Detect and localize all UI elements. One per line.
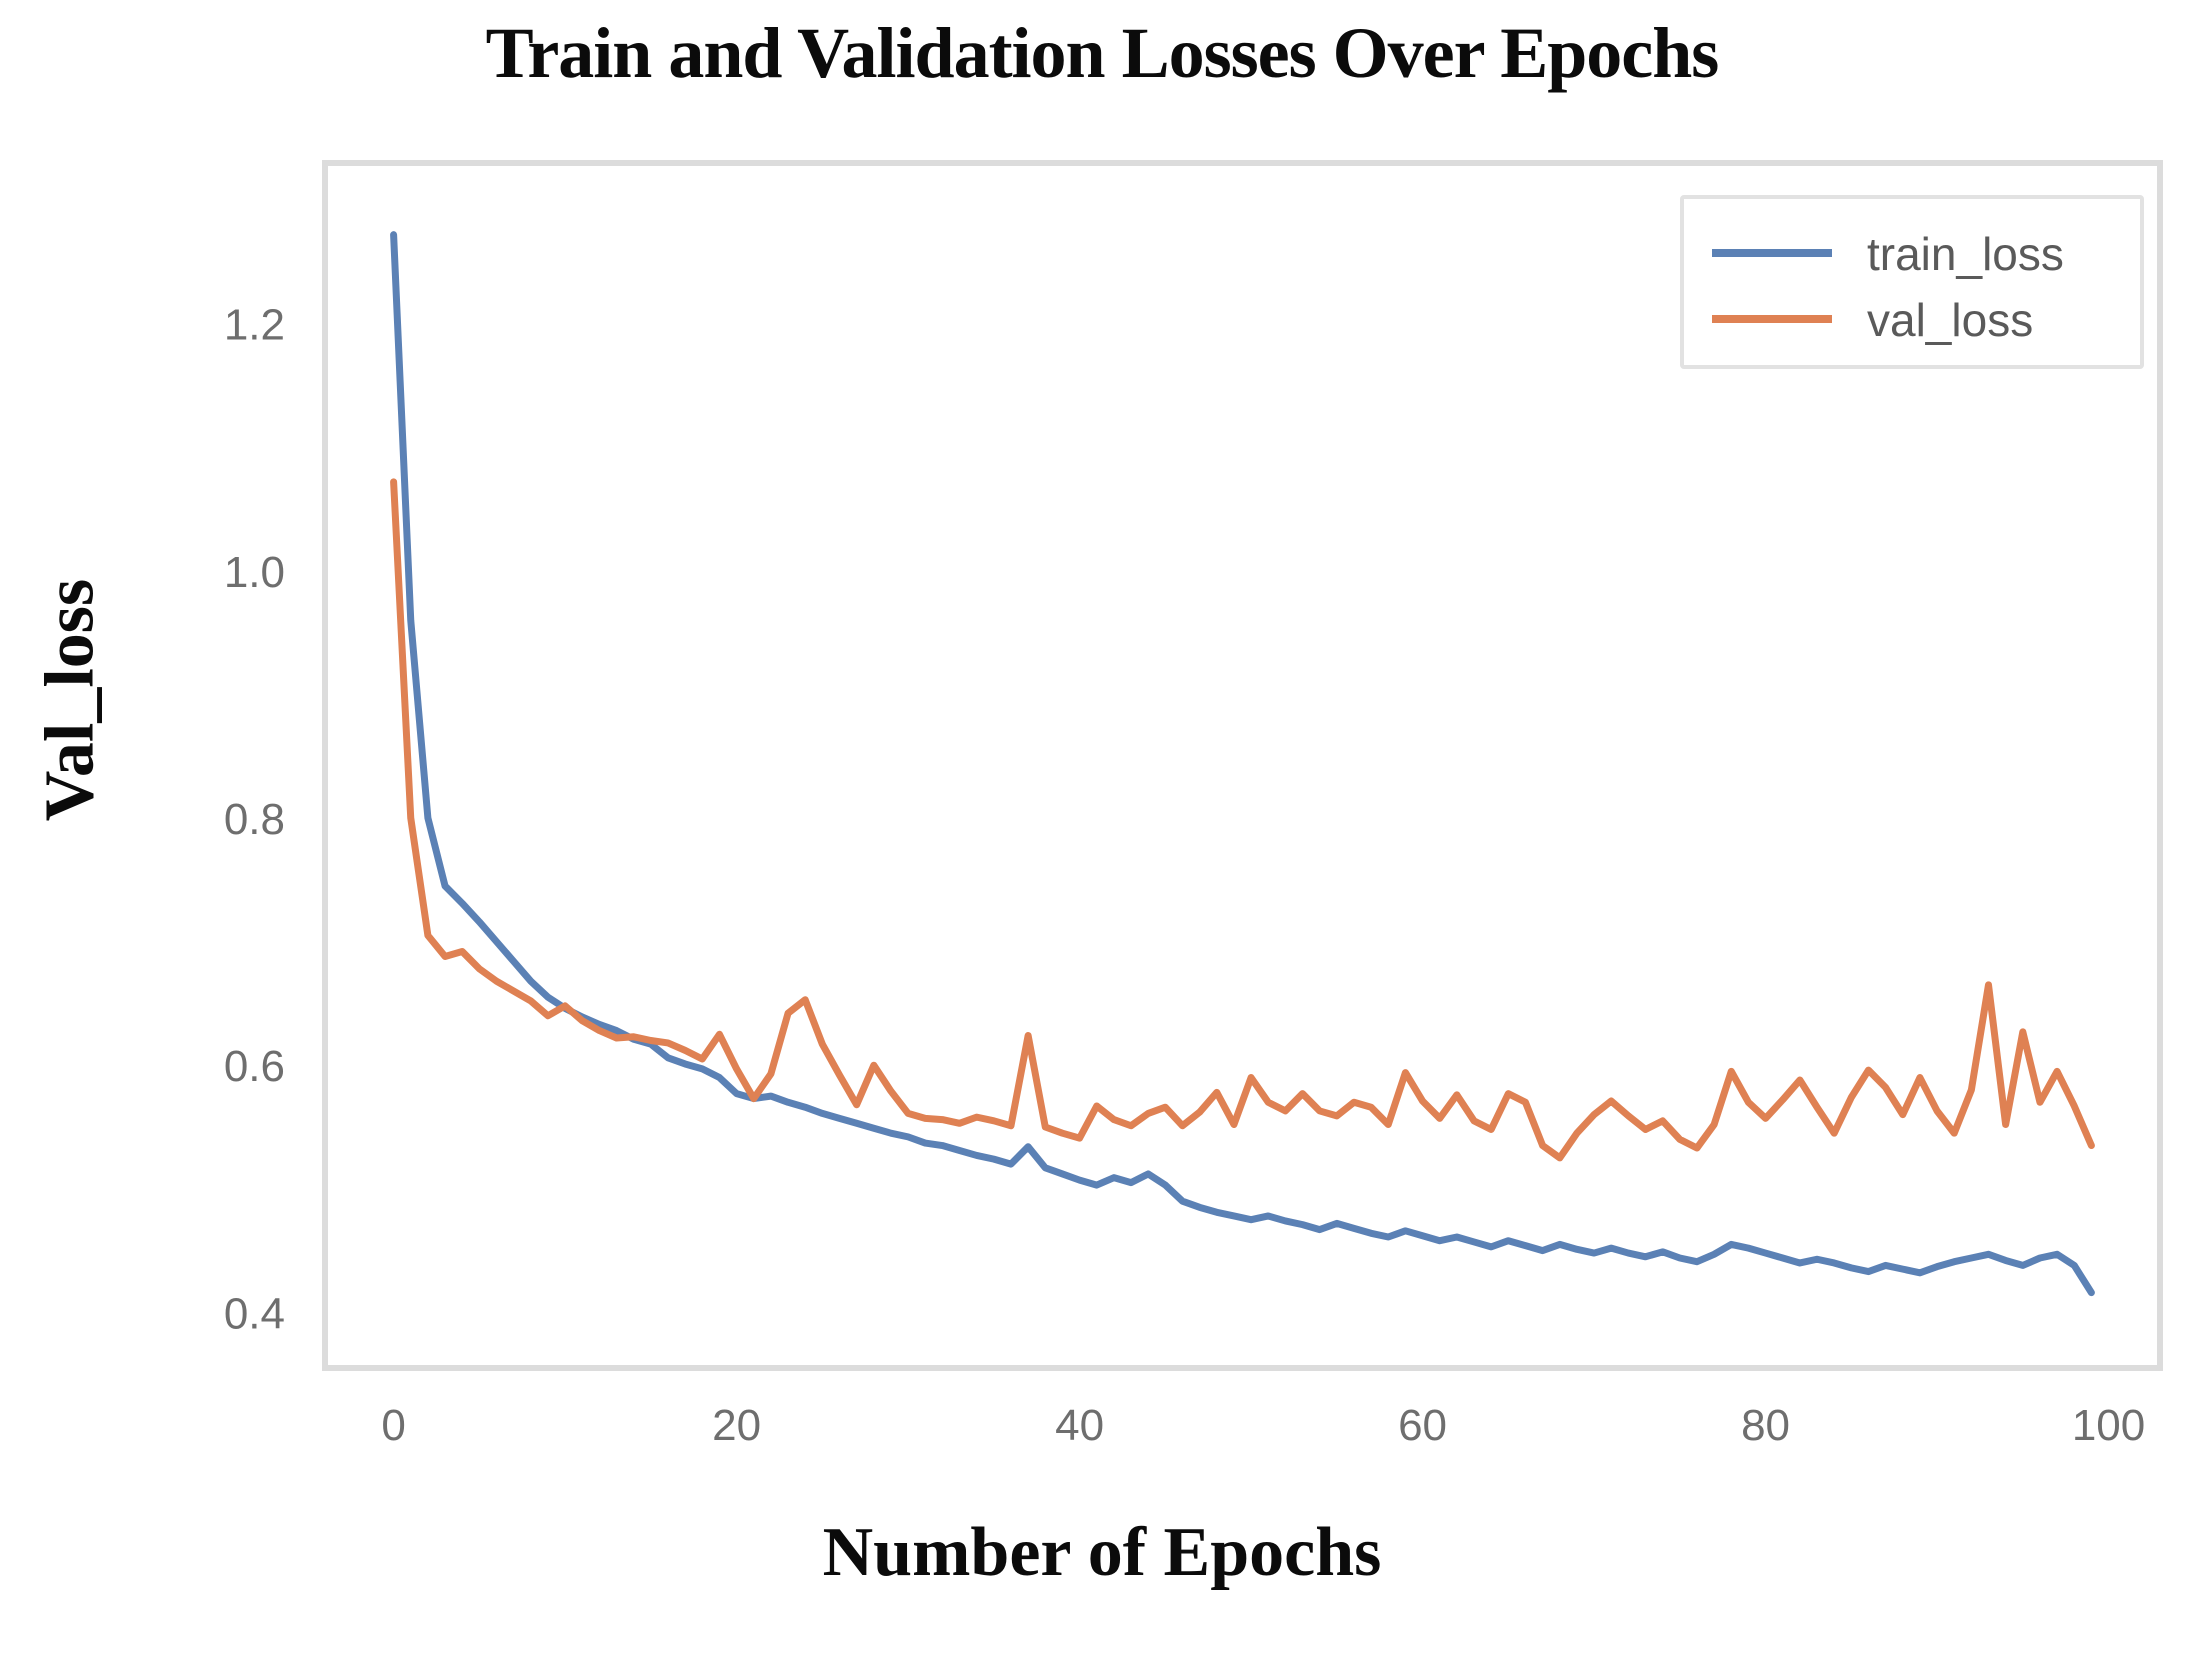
y-tick-label: 0.8 [224,795,285,844]
x-axis-label: Number of Epochs [0,1513,2204,1593]
x-axis-ticks: 020406080100 [381,1401,2145,1450]
legend-label-val-loss: val_loss [1867,294,2033,346]
chart-legend[interactable]: train_lossval_loss [1682,197,2142,367]
x-tick-label: 0 [381,1401,405,1450]
x-tick-label: 80 [1741,1401,1790,1450]
plot-area: 0.40.60.81.01.2 020406080100 train_lossv… [0,0,2204,1653]
y-tick-label: 0.6 [224,1042,285,1091]
y-axis-ticks: 0.40.60.81.01.2 [224,301,285,1339]
legend-label-train-loss: train_loss [1867,228,2064,280]
x-tick-label: 60 [1398,1401,1447,1450]
x-tick-label: 40 [1055,1401,1104,1450]
x-tick-label: 20 [712,1401,761,1450]
x-tick-label: 100 [2072,1401,2145,1450]
chart-figure: Train and Validation Losses Over Epochs … [0,0,2204,1653]
y-tick-label: 0.4 [224,1289,285,1338]
y-tick-label: 1.0 [224,548,285,597]
y-tick-label: 1.2 [224,301,285,350]
